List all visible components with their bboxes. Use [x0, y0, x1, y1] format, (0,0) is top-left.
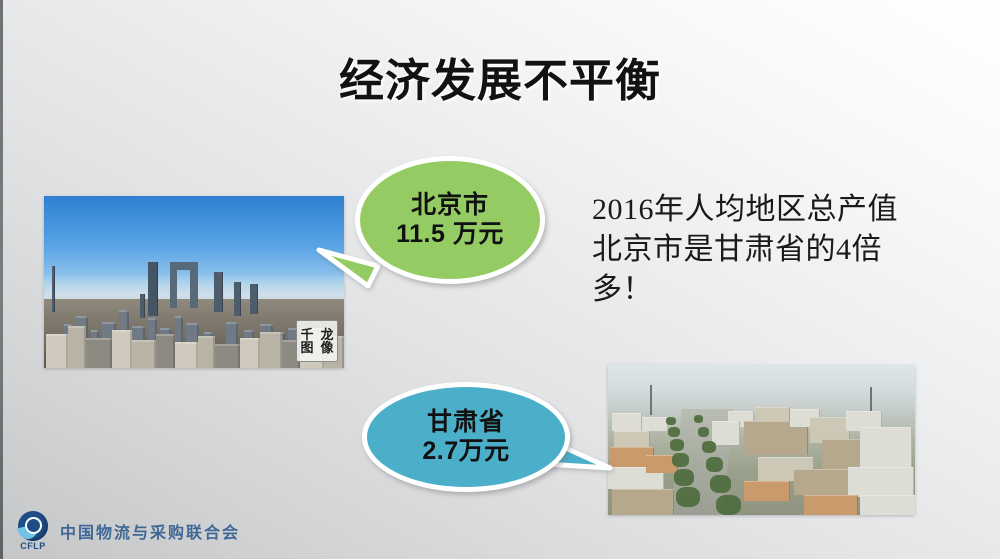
callout-region-beijing: 北京市 [411, 191, 489, 221]
footer-org-name: 中国物流与采购联合会 [60, 519, 240, 543]
transmission-mast [650, 385, 652, 415]
footer-logo: CFLP 中国物流与采购联合会 [16, 511, 240, 551]
callout-bubble-gansu[interactable]: 甘肃省 2.7万元 [362, 382, 570, 492]
transmission-mast [870, 387, 872, 413]
logo-abbreviation: CFLP [16, 541, 50, 551]
body-line-2: 北京市是甘肃省的4倍 [592, 230, 952, 270]
slide-canvas: 经济发展不平衡 [0, 0, 1000, 559]
gansu-sky [608, 365, 915, 410]
body-line-1: 2016年人均地区总产值 [592, 190, 952, 230]
body-paragraph: 2016年人均地区总产值 北京市是甘肃省的4倍 多！ [592, 190, 952, 311]
callout-region-gansu: 甘肃省 [427, 408, 505, 438]
logo-inner-dot [27, 519, 40, 532]
body-line-3: 多！ [592, 270, 952, 310]
radio-mast [52, 266, 55, 312]
callout-bubble-beijing[interactable]: 北京市 11.5 万元 [355, 156, 545, 284]
callout-value-beijing: 11.5 万元 [396, 220, 504, 250]
photo-beijing-skyline: 千龙图像 [44, 196, 344, 368]
page-title: 经济发展不平衡 [0, 44, 1000, 109]
photo-watermark: 千龙图像 [296, 320, 338, 362]
photo-gansu-town [608, 365, 915, 515]
callout-value-gansu: 2.7万元 [422, 437, 509, 467]
cflp-logo-icon: CFLP [16, 511, 50, 551]
